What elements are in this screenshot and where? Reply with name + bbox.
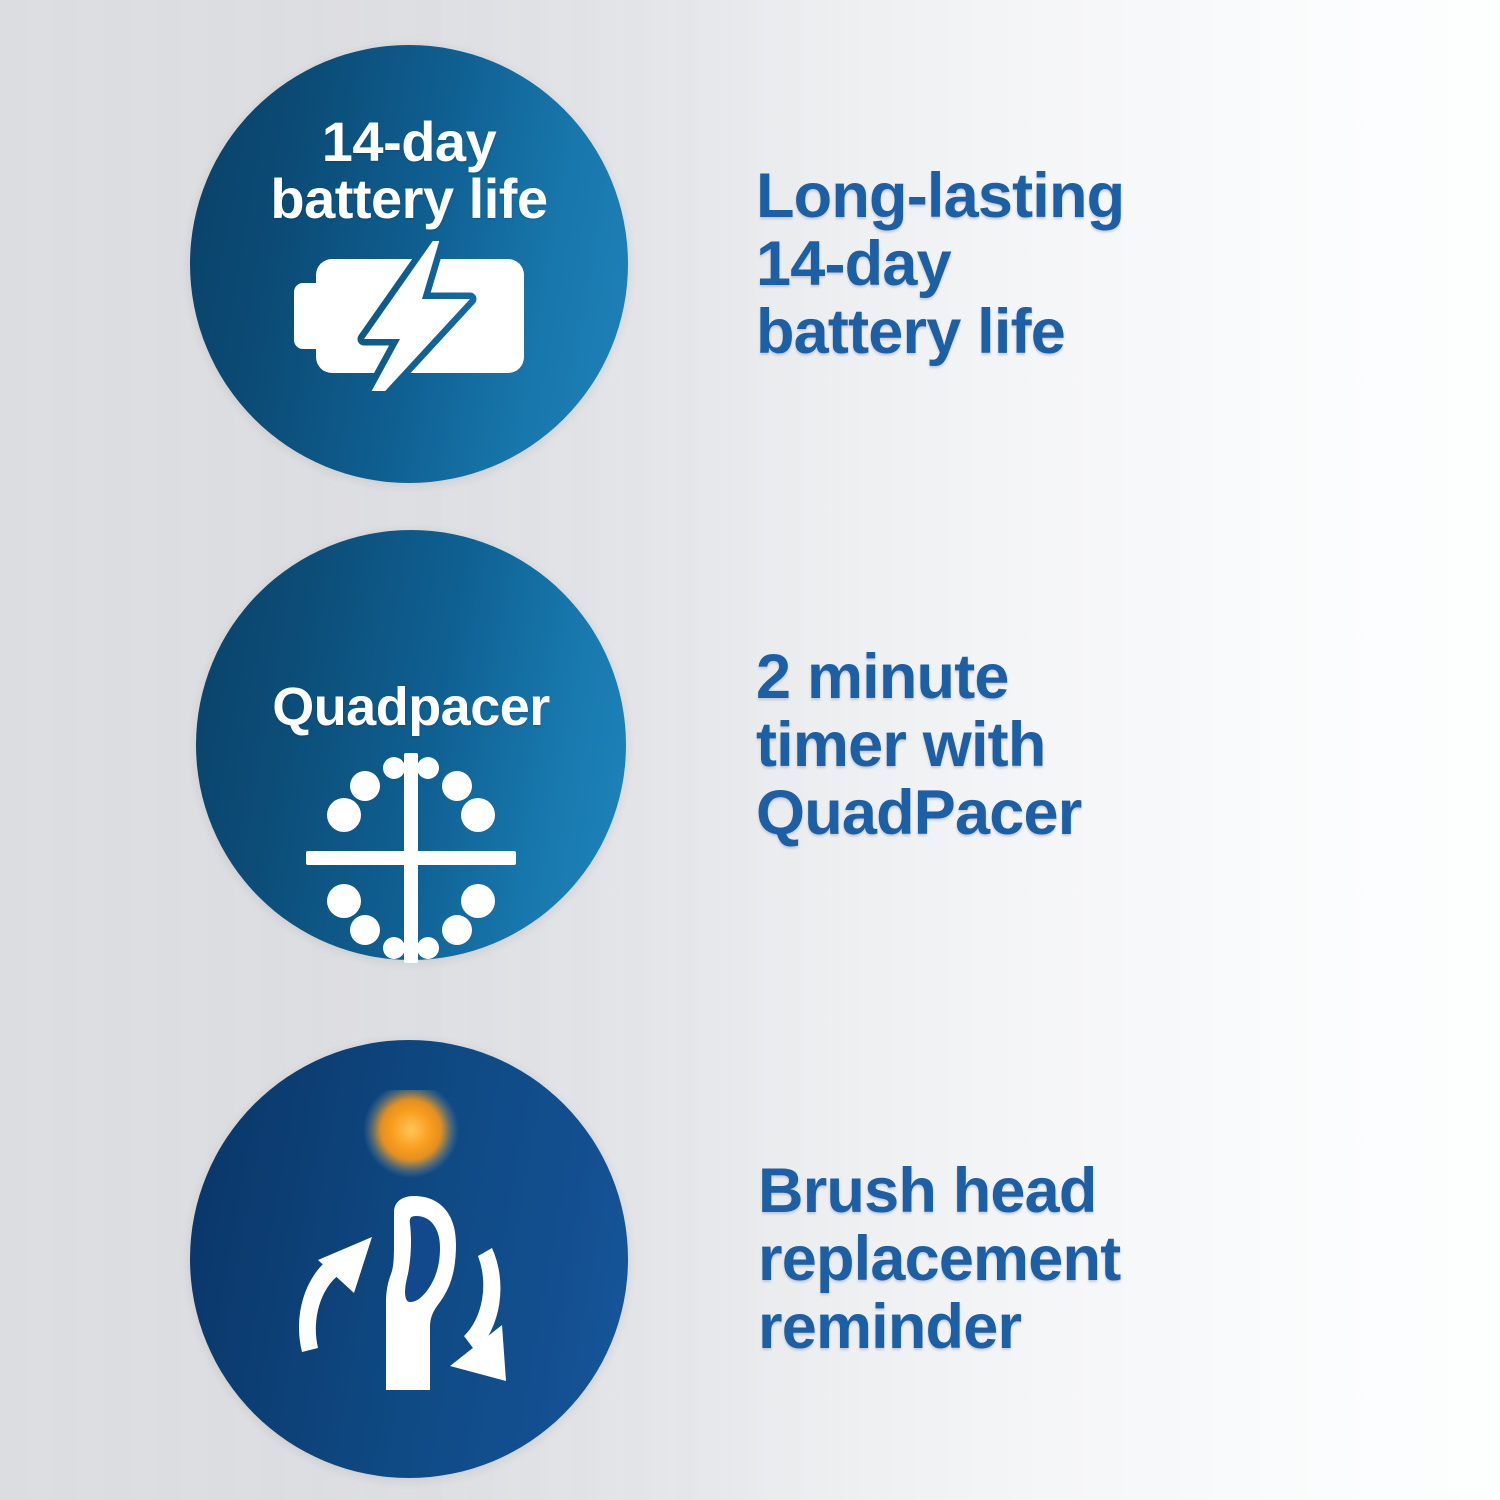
indicator-light-icon xyxy=(363,1090,459,1178)
badge-label-battery-life: 14-day battery life xyxy=(244,113,574,227)
feature-panel: 14-day battery life xyxy=(0,0,1500,1500)
feature-heading-quadpacer: 2 minute timer with QuadPacer xyxy=(756,643,1081,847)
feature-heading-brush-head-reminder: Brush head replacement reminder xyxy=(758,1157,1120,1361)
badge-brush-head-reminder xyxy=(190,1040,628,1478)
battery-charging-icon xyxy=(294,241,524,391)
quadpacer-dots-cross-icon xyxy=(306,753,516,963)
badge-label-quadpacer: Quadpacer xyxy=(221,680,601,735)
feature-row-brush-head-reminder: Brush head replacement reminder xyxy=(190,1040,1480,1478)
feature-row-quadpacer: Quadpacer xyxy=(196,530,1486,960)
feature-row-battery-life: 14-day battery life xyxy=(190,45,1480,483)
badge-battery-life: 14-day battery life xyxy=(190,45,628,483)
badge-quadpacer: Quadpacer xyxy=(196,530,626,960)
brush-head-replacement-icon xyxy=(244,1090,574,1420)
feature-heading-battery-life: Long-lasting 14-day battery life xyxy=(756,162,1124,366)
